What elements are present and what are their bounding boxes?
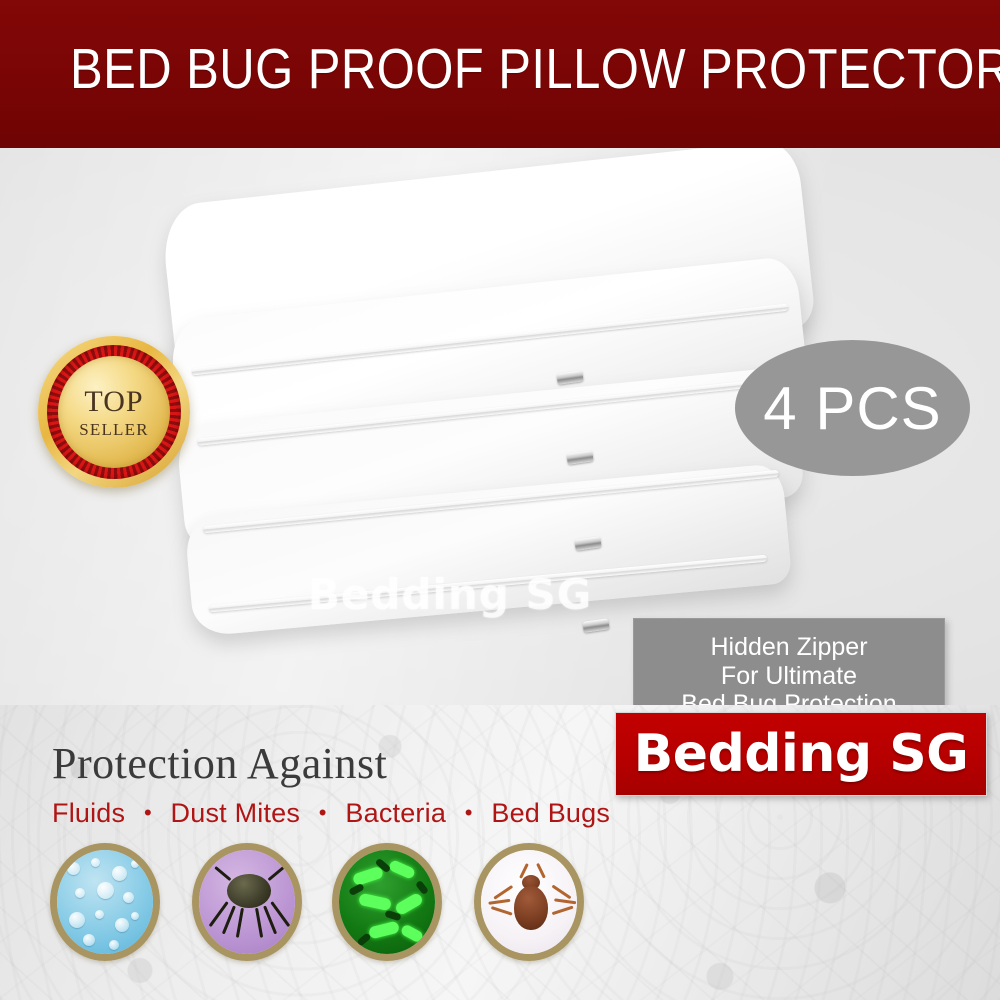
- protection-item-bed-bugs: Bed Bugs: [491, 798, 610, 828]
- zipper-pull-icon-4: [582, 618, 609, 633]
- protection-item-bacteria: Bacteria: [345, 798, 446, 828]
- badge-seller-label: SELLER: [79, 421, 149, 438]
- fluids-icon: [50, 843, 160, 961]
- protection-icon-row: [40, 843, 600, 963]
- product-showcase-area: Bedding SG TOP SELLER 4 PCS Size: 48 X 7…: [0, 148, 1000, 705]
- hidden-zipper-line-2: For Ultimate: [721, 662, 857, 691]
- hidden-zipper-line-1: Hidden Zipper: [710, 633, 867, 662]
- brand-logo: Bedding SG: [615, 712, 987, 796]
- quantity-badge-label: 4 PCS: [763, 374, 941, 443]
- product-advertisement-image: BED BUG PROOF PILLOW PROTECTOR Bedding S…: [0, 0, 1000, 1000]
- separator-dot-1: •: [133, 800, 163, 825]
- dust-mite-icon: [192, 843, 302, 961]
- badge-inner: TOP SELLER: [58, 356, 170, 468]
- quantity-badge: 4 PCS: [735, 340, 970, 476]
- dust-mite-graphic: [199, 850, 295, 954]
- protection-item-dust-mites: Dust Mites: [171, 798, 301, 828]
- header-banner: BED BUG PROOF PILLOW PROTECTOR: [0, 0, 1000, 148]
- protection-item-fluids: Fluids: [52, 798, 125, 828]
- badge-top-label: TOP: [84, 387, 143, 417]
- bed-bug-icon: [474, 843, 584, 961]
- bacteria-icon: [332, 843, 442, 961]
- hidden-zipper-panel: Hidden Zipper For Ultimate Bed Bug Prote…: [633, 618, 945, 705]
- top-seller-badge: TOP SELLER: [38, 336, 190, 488]
- page-title: BED BUG PROOF PILLOW PROTECTOR: [70, 40, 930, 100]
- separator-dot-3: •: [454, 800, 484, 825]
- hidden-zipper-line-3: Bed Bug Protection: [681, 690, 896, 705]
- protection-title: Protection Against: [52, 738, 387, 789]
- bed-bug-graphic: [481, 850, 577, 954]
- separator-dot-2: •: [308, 800, 338, 825]
- brand-logo-text: Bedding SG: [634, 724, 969, 784]
- hidden-zipper-caption: Hidden Zipper For Ultimate Bed Bug Prote…: [634, 619, 944, 705]
- protection-items-list: Fluids • Dust Mites • Bacteria • Bed Bug…: [52, 798, 610, 829]
- water-droplets-graphic: [57, 850, 153, 954]
- bacteria-graphic: [339, 850, 435, 954]
